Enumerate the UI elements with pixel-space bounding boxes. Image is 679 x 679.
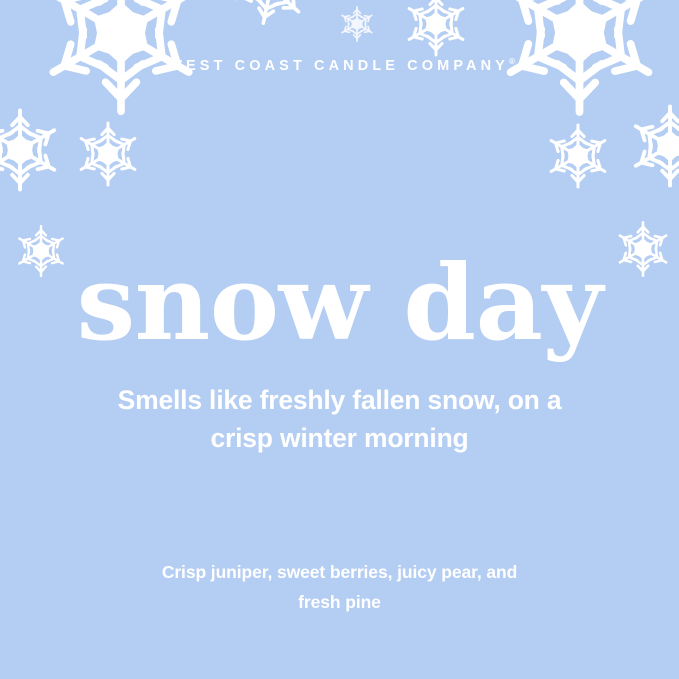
product-subtitle: Smells like freshly fallen snow, on a cr…: [60, 381, 620, 457]
snowflake-right-edge: [624, 100, 679, 192]
product-scent-notes-line-1: Crisp juniper, sweet berries, juicy pear…: [80, 557, 600, 587]
snowflake-left-edge: [0, 104, 66, 196]
brand-name-text: WEST COAST CANDLE COMPANY: [168, 58, 509, 74]
registered-trademark-icon: ®: [509, 57, 515, 66]
page-title: snow day: [0, 251, 679, 355]
product-subtitle-line-1: Smells like freshly fallen snow, on a: [60, 381, 620, 419]
product-subtitle-line-2: crisp winter morning: [60, 419, 620, 457]
snowflake-left-upper: [72, 118, 144, 190]
product-label-canvas: WEST COAST CANDLE COMPANY® snow day Smel…: [0, 0, 679, 679]
brand-name: WEST COAST CANDLE COMPANY®: [0, 57, 679, 74]
product-scent-notes: Crisp juniper, sweet berries, juicy pear…: [80, 557, 600, 617]
snowflake-top-center-right: [400, 0, 472, 60]
snowflake-top-center-left: [220, 0, 322, 38]
product-scent-notes-line-2: fresh pine: [80, 587, 600, 617]
snowflake-right-upper: [542, 120, 614, 192]
snowflake-top-center-tiny: [337, 4, 377, 44]
